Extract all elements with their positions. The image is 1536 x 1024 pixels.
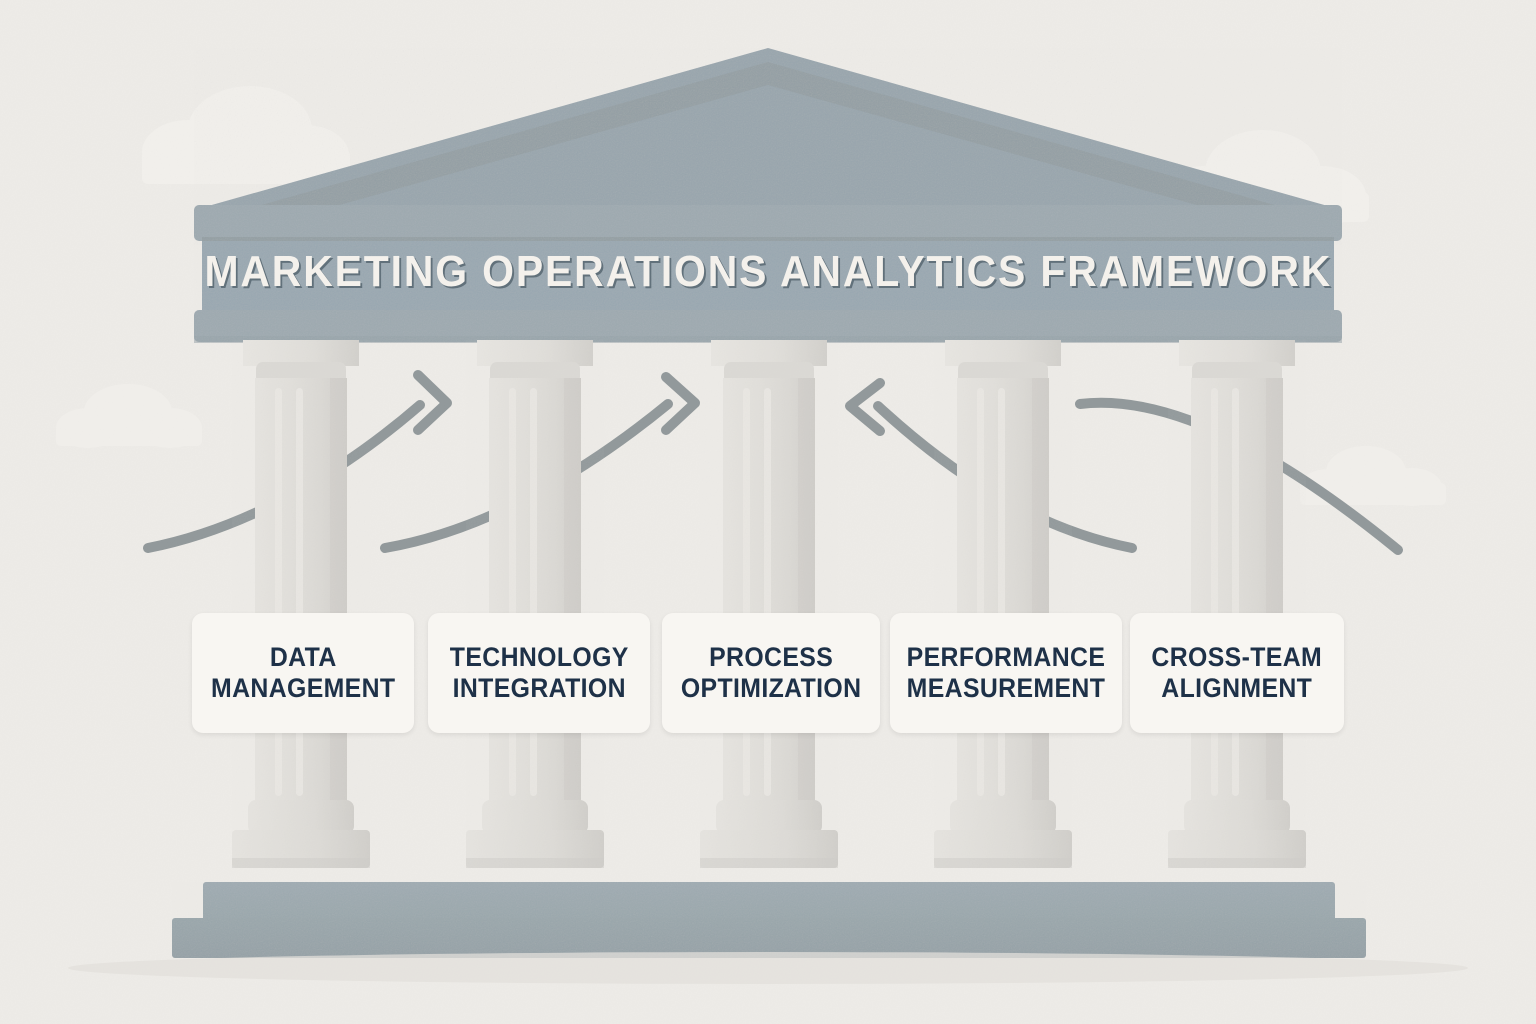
column-2-plinth-shade — [466, 858, 604, 868]
column-5-plinth-shade — [1168, 858, 1306, 868]
column-4-torus — [950, 800, 1056, 834]
ground-shadow — [68, 952, 1468, 984]
pillar-label-technology-integration: TECHNOLOGY INTEGRATION — [450, 642, 629, 704]
pillar-card-process-optimization[interactable]: PROCESS OPTIMIZATION — [662, 613, 880, 733]
column-3-plinth-shade — [700, 858, 838, 868]
framework-title-text: MARKETING OPERATIONS ANALYTICS FRAMEWORK — [204, 247, 1332, 297]
column-5-torus — [1184, 800, 1290, 834]
column-4-plinth-shade — [934, 858, 1072, 868]
pillar-card-technology-integration[interactable]: TECHNOLOGY INTEGRATION — [428, 613, 650, 733]
column-2-torus — [482, 800, 588, 834]
stylobate — [172, 882, 1366, 958]
framework-title: MARKETING OPERATIONS ANALYTICS FRAMEWORK — [210, 236, 1326, 308]
column-3-torus — [716, 800, 822, 834]
pillar-label-process-optimization: PROCESS OPTIMIZATION — [681, 642, 862, 704]
stylobate-lower-step — [172, 918, 1366, 958]
column-1-plinth-shade — [232, 858, 370, 868]
pillar-label-data-management: DATA MANAGEMENT — [211, 642, 395, 704]
framework-illustration: MARKETING OPERATIONS ANALYTICS FRAMEWORK… — [0, 0, 1536, 1024]
pillar-label-performance-measurement: PERFORMANCE MEASUREMENT — [907, 642, 1106, 704]
pillar-card-data-management[interactable]: DATA MANAGEMENT — [192, 613, 414, 733]
pillar-card-performance-measurement[interactable]: PERFORMANCE MEASUREMENT — [890, 613, 1122, 733]
temple-graphic — [0, 0, 1536, 1024]
pillar-card-cross-team-alignment[interactable]: CROSS-TEAM ALIGNMENT — [1130, 613, 1344, 733]
pillar-label-cross-team-alignment: CROSS-TEAM ALIGNMENT — [1152, 642, 1323, 704]
stylobate-upper-step — [203, 882, 1335, 922]
column-1-torus — [248, 800, 354, 834]
